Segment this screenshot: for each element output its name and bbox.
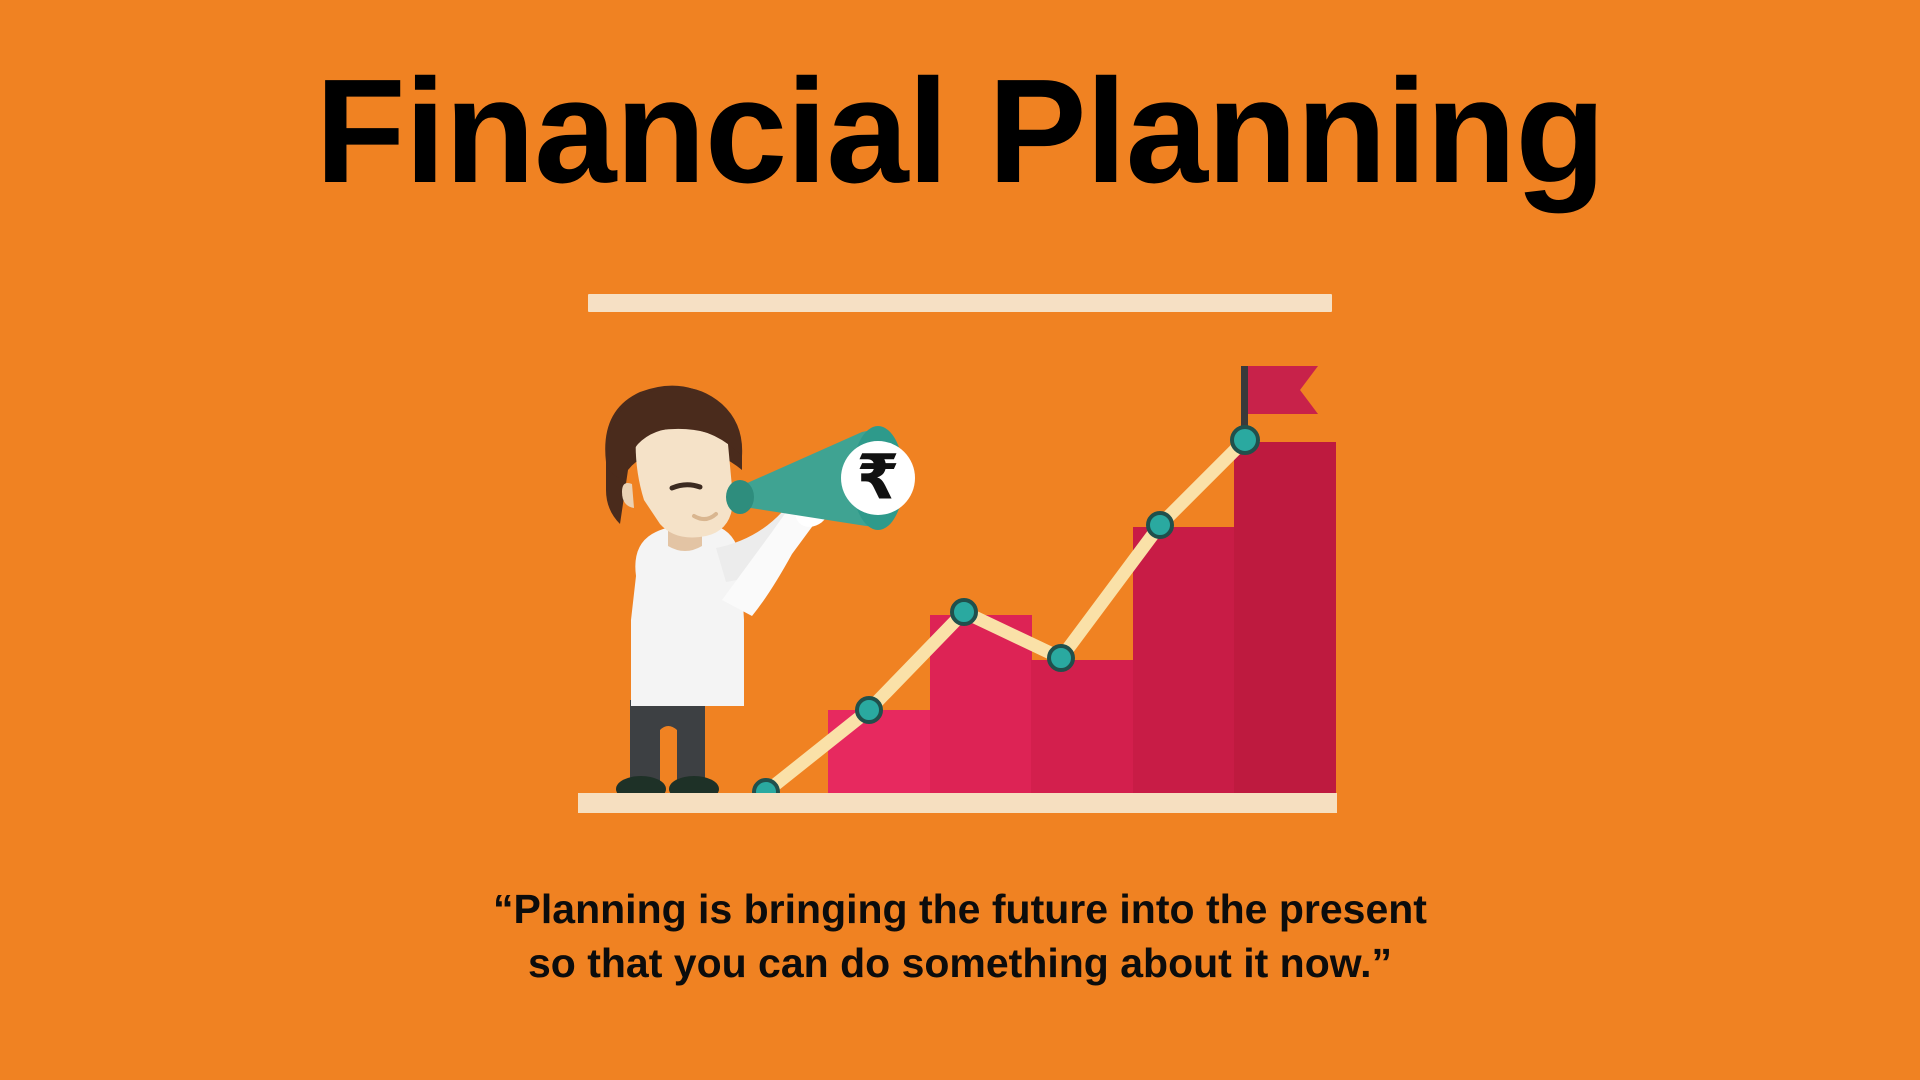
telescope: ₹ bbox=[726, 426, 915, 530]
businessman-character bbox=[605, 386, 841, 802]
telescope-eyepiece bbox=[726, 480, 754, 514]
flag-banner bbox=[1248, 366, 1318, 414]
slide-canvas: Financial Planning bbox=[0, 0, 1920, 1080]
bar-4 bbox=[1133, 527, 1235, 798]
quote-line-2: so that you can do something about it no… bbox=[0, 936, 1920, 990]
data-point-6 bbox=[1232, 427, 1258, 453]
bar-5 bbox=[1234, 442, 1336, 798]
quote-line-1: “Planning is bringing the future into th… bbox=[0, 882, 1920, 936]
data-point-3 bbox=[952, 600, 976, 624]
ground-bar bbox=[578, 793, 1337, 813]
quote-block: “Planning is bringing the future into th… bbox=[0, 882, 1920, 990]
rupee-icon: ₹ bbox=[856, 444, 899, 513]
data-point-5 bbox=[1148, 513, 1172, 537]
character-ear bbox=[622, 483, 634, 508]
data-point-4 bbox=[1049, 646, 1073, 670]
data-point-2 bbox=[857, 698, 881, 722]
bar-3 bbox=[1031, 660, 1133, 798]
